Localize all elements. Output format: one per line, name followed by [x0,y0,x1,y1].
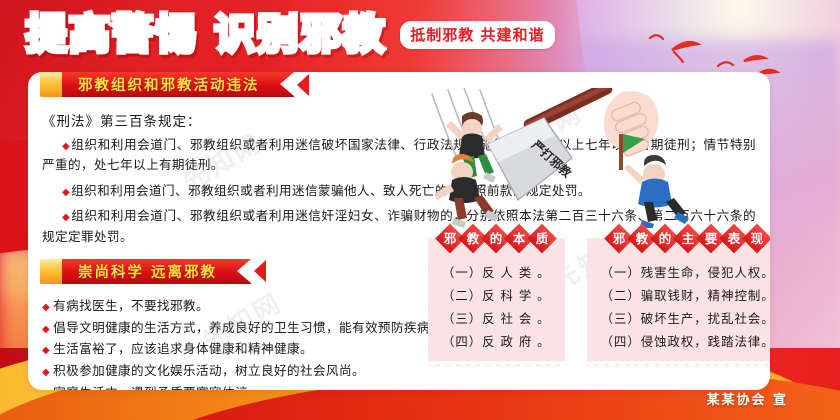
title-char-glyph: 主 [677,228,698,249]
list-item-text: 积极参加健康的文化娱乐活动，树立良好的社会风尚。 [53,363,365,378]
list-item: （一）反 人 类 。 [442,262,551,285]
stamp-edge-left [428,238,435,366]
list-item: （二）反 科 学 。 [442,285,551,308]
poster-canvas: 提高警惕 识别邪教 抵制邪教 共建和谐 先知网 先知网 先知网 先知网 邪教组织… [0,0,840,420]
box-title-nature: 邪 教 的 本 质 [440,228,553,249]
stamp-edge-left [587,238,594,366]
list-item: （三）反 社 会 。 [442,308,551,331]
hammer: 严打邪教 [488,88,614,200]
manifest-list: （一）残害生命，侵犯人权。 （二）骗取钱财，精神控制。 （三）破坏生产，扰乱社会… [601,262,770,354]
chevron-right-icon [254,260,266,282]
title-char: 现 [742,224,770,254]
list-item: （一）残害生命，侵犯人权。 [601,262,770,285]
crackdown-illustration: 严打邪教 [426,88,756,228]
box-manifestations: 邪 教 的 主 要 表 现 （一）残害生命，侵犯人权。 （二）骗取钱财，精神控制… [587,238,770,366]
title-char-glyph: 的 [654,228,675,249]
title-char-glyph: 现 [746,228,767,249]
title-char: 质 [527,224,557,254]
section-banner-label: 邪教组织和邪教活动违法 [62,72,294,97]
nature-list: （一）反 人 类 。 （二）反 科 学 。 （三）反 社 会 。 （四）反 政 … [442,262,551,354]
poster-header: 提高警惕 识别邪教 抵制邪教 共建和谐 [26,14,555,55]
diamond-bullet-icon: ◆ [42,345,50,356]
banner-gold-tab [40,72,62,97]
list-item-text: 家庭生活中，遇到矛盾要宽容体谅。 [53,385,261,390]
diamond-bullet-icon: ◆ [42,324,50,335]
section-banner-label: 崇尚科学 远离邪教 [62,259,251,284]
content-card: 先知网 先知网 先知网 先知网 邪教组织和邪教活动违法 《刑法》第三百条规定： … [28,72,770,390]
diamond-bullet-icon: ◆ [42,302,50,313]
page-subtitle: 抵制邪教 共建和谐 [400,21,554,49]
chevron-right-icon [297,74,309,96]
list-item-text: 有病找医生，不要找邪教。 [53,298,209,313]
section-banner-illegal: 邪教组织和邪教活动违法 [40,72,309,97]
banner-gold-tab [40,259,62,284]
box-title-manifest: 邪 教 的 主 要 表 现 [608,228,767,249]
list-item: （四）反 政 府 。 [442,331,551,354]
diamond-bullet-icon: ◆ [42,367,50,378]
list-item-text: 生活富裕了，应该追求身体健康和精神健康。 [53,341,313,356]
fleeing-figure-3 [619,134,689,228]
list-item-text: 倡导文明健康的生活方式，养成良好的卫生习惯，能有效预防疾病。 [53,320,443,335]
section-banner-science: 崇尚科学 远离邪教 [40,259,266,284]
footer-credit: 某某协会 宣 [706,389,788,408]
title-char-glyph: 教 [631,228,652,249]
title-char-glyph: 质 [532,228,553,249]
box-nature-of-cult: 邪 教 的 本 质 （一）反 人 类 。 （二）反 科 学 。 （三）反 社 会… [428,238,565,366]
diamond-bullet-icon: ◆ [62,212,70,223]
list-item: ◆家庭生活中，遇到矛盾要宽容体谅。 [42,382,770,390]
title-char-glyph: 要 [700,228,721,249]
title-char-glyph: 邪 [608,228,629,249]
diamond-bullet-icon: ◆ [62,187,70,198]
diamond-bullet-icon: ◆ [42,389,50,390]
diamond-bullet-icon: ◆ [62,141,70,152]
title-char-glyph: 表 [723,228,744,249]
stamp-edge-right [558,238,565,366]
info-boxes: 邪 教 的 本 质 （一）反 人 类 。 （二）反 科 学 。 （三）反 社 会… [428,238,770,366]
list-item: （二）骗取钱财，精神控制。 [601,285,770,308]
page-title: 提高警惕 识别邪教 [26,14,386,55]
list-item: （三）破坏生产，扰乱社会。 [601,308,770,331]
list-item: （四）侵蚀政权，践踏法律。 [601,331,770,354]
